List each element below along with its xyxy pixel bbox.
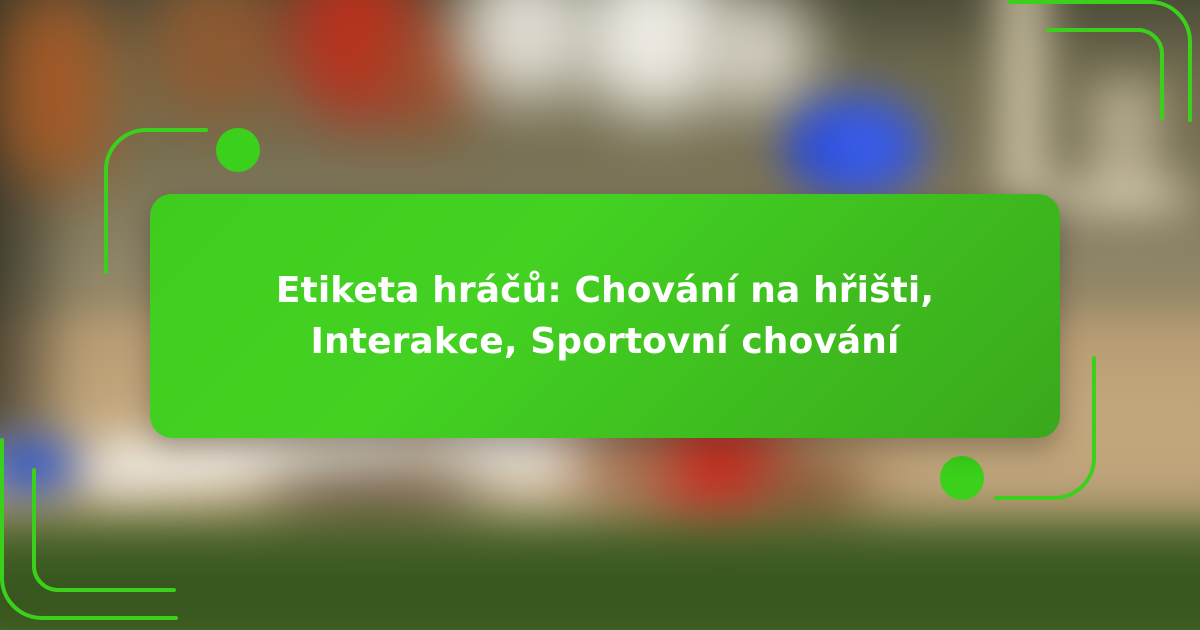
title-card: Etiketa hráčů: Chování na hřišti, Intera… (150, 194, 1060, 438)
photo-post-right (1000, 0, 1045, 200)
photo-player-shoe (0, 438, 75, 493)
photo-railing (1040, 185, 1190, 207)
photo-figure-red-left-2 (150, 0, 280, 120)
photo-figure-red-center-2 (380, 20, 470, 130)
photo-figure-red-left (0, 0, 110, 180)
photo-blue-helmet-glow (820, 110, 910, 180)
social-share-card: Etiketa hráčů: Chování na hřišti, Intera… (0, 0, 1200, 630)
photo-player-glove (750, 455, 870, 525)
card-title: Etiketa hráčů: Chování na hřišti, Intera… (204, 265, 1006, 367)
photo-grass-shadow (0, 520, 1200, 630)
